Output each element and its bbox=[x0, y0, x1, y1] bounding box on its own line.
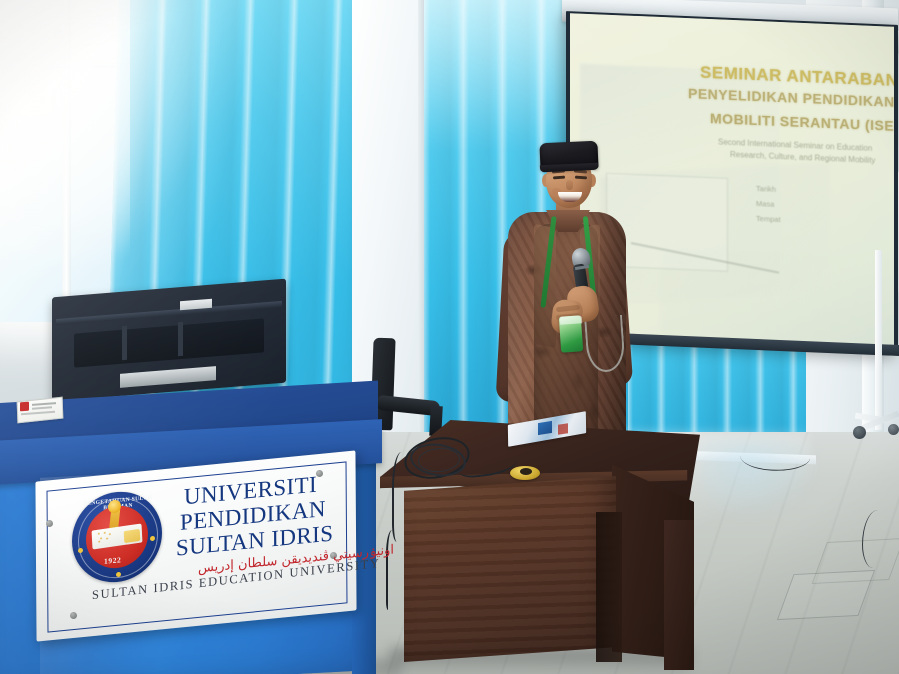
cable-hanging bbox=[392, 452, 416, 542]
speaker-nose bbox=[566, 180, 573, 190]
plaque-screw-top-left bbox=[46, 520, 53, 527]
floor-cable-secondary bbox=[862, 510, 889, 568]
seal-book-detail bbox=[96, 530, 113, 544]
booklet-cover-graphic bbox=[538, 421, 552, 435]
slide-meta-line-3: Tempat bbox=[756, 214, 781, 224]
wooden-table-knee-space bbox=[596, 512, 622, 662]
seal-founding-year: 1922 bbox=[104, 555, 121, 566]
slide-meta-line-2: Masa bbox=[756, 199, 774, 209]
screen-stand-caster-secondary bbox=[888, 424, 899, 435]
plaque-screw-top-right bbox=[316, 470, 323, 477]
cable-grommet-opening bbox=[520, 468, 532, 475]
speaker-person bbox=[490, 140, 640, 452]
window-light-glow bbox=[0, 0, 130, 340]
photo-scene: SEMINAR ANTARABANGSA KEDUA PENYELIDIKAN … bbox=[0, 0, 899, 674]
slide-meta-line-1: Tarikh bbox=[756, 184, 776, 194]
name-badge-header bbox=[560, 315, 583, 325]
booklet-cover-graphic-secondary bbox=[558, 423, 568, 435]
monitor-vent-rib-secondary bbox=[178, 322, 183, 356]
seal-book-detail-secondary bbox=[124, 529, 141, 543]
plaque-screw-bottom-left bbox=[70, 612, 77, 619]
wooden-table-leg bbox=[664, 520, 694, 670]
inventory-sticker-logo bbox=[20, 402, 29, 412]
screen-stand-post bbox=[875, 250, 882, 430]
wooden-table-grain bbox=[404, 476, 616, 662]
screen-stand-caster bbox=[853, 426, 866, 439]
